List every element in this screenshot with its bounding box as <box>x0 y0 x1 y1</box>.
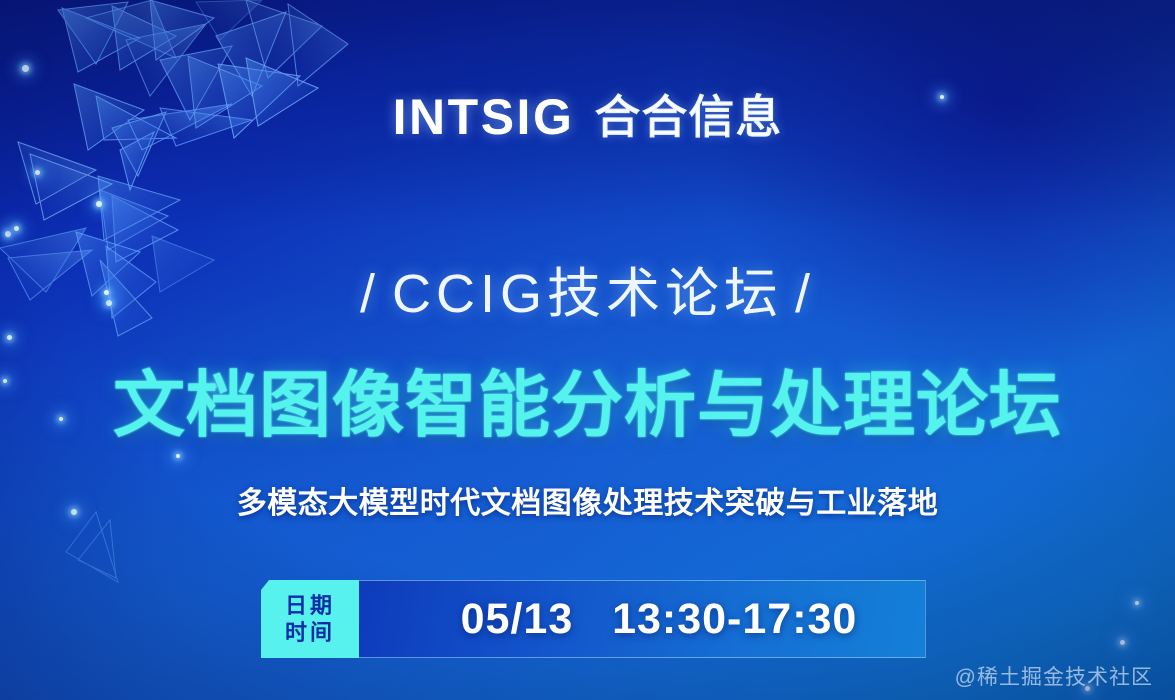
datetime-banner: 日期 时间 05/13 13:30-17:30 <box>261 580 926 658</box>
watermark: @稀土掘金技术社区 <box>955 667 1153 688</box>
forum-subtitle: /CCIG技术论坛/ <box>0 266 1175 323</box>
slash-left-decoration: / <box>348 266 392 323</box>
brand-logo: INTSIG 合合信息 <box>0 92 1175 142</box>
brand-logo-english: INTSIG <box>393 92 575 142</box>
datetime-value-bar: 05/13 13:30-17:30 <box>359 580 926 658</box>
datetime-value: 05/13 13:30-17:30 <box>359 598 925 641</box>
poster-canvas: INTSIG 合合信息 /CCIG技术论坛/ 文档图像智能分析与处理论坛 多模态… <box>0 0 1175 700</box>
page-tagline: 多模态大模型时代文档图像处理技术突破与工业落地 <box>0 487 1175 520</box>
datetime-tag-date-label: 日期 <box>285 593 335 618</box>
slash-right-decoration: / <box>783 266 827 323</box>
brand-logo-chinese: 合合信息 <box>594 94 782 140</box>
datetime-tag: 日期 时间 <box>261 580 359 658</box>
forum-subtitle-label: CCIG技术论坛 <box>392 264 783 324</box>
page-title: 文档图像智能分析与处理论坛 <box>0 368 1175 446</box>
poster-content: INTSIG 合合信息 /CCIG技术论坛/ 文档图像智能分析与处理论坛 多模态… <box>0 0 1175 700</box>
datetime-tag-time-label: 时间 <box>285 620 335 645</box>
